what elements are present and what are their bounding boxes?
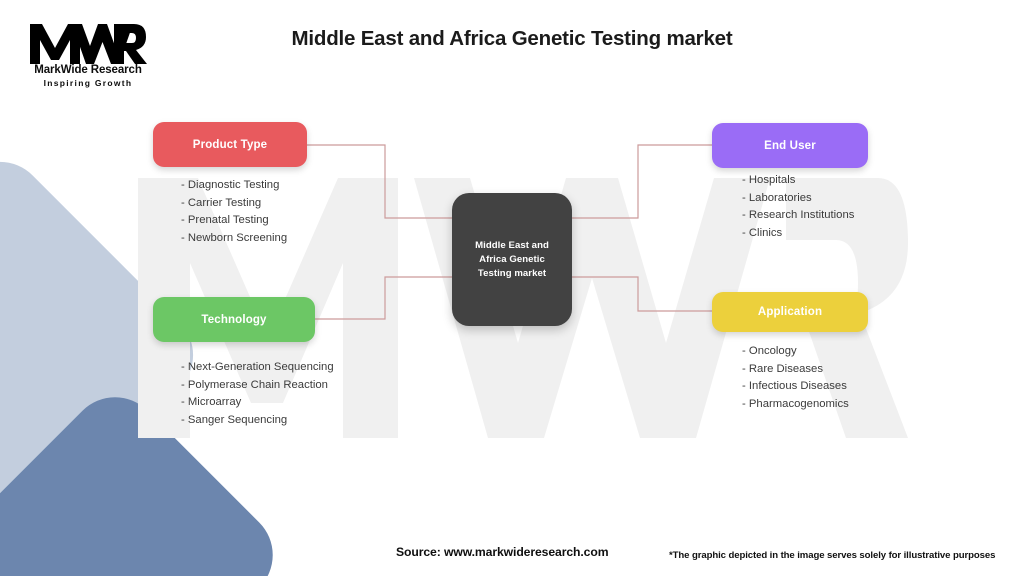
branch-node-product-type[interactable]: Product Type bbox=[153, 122, 307, 167]
list-item: - Infectious Diseases bbox=[742, 378, 849, 396]
branch-items-end-user: - Hospitals - Laboratories - Research In… bbox=[742, 172, 854, 243]
center-node[interactable]: Middle East and Africa Genetic Testing m… bbox=[452, 193, 572, 326]
list-item: - Prenatal Testing bbox=[181, 212, 287, 230]
list-item: - Next-Generation Sequencing bbox=[181, 359, 334, 377]
list-item: - Diagnostic Testing bbox=[181, 177, 287, 195]
list-item: - Research Institutions bbox=[742, 207, 854, 225]
branch-node-application[interactable]: Application bbox=[712, 292, 868, 332]
connector-application bbox=[572, 277, 712, 311]
connector-technology bbox=[315, 277, 452, 319]
connector-end-user bbox=[572, 145, 712, 218]
disclaimer-label: *The graphic depicted in the image serve… bbox=[669, 550, 995, 561]
branch-node-technology[interactable]: Technology bbox=[153, 297, 315, 342]
list-item: - Pharmacogenomics bbox=[742, 396, 849, 414]
list-item: - Polymerase Chain Reaction bbox=[181, 377, 334, 395]
branch-items-product-type: - Diagnostic Testing - Carrier Testing -… bbox=[181, 177, 287, 248]
list-item: - Rare Diseases bbox=[742, 361, 849, 379]
center-node-line-2: Africa Genetic bbox=[479, 253, 545, 267]
connector-product-type bbox=[307, 145, 452, 218]
source-label[interactable]: Source: www.markwideresearch.com bbox=[396, 545, 608, 559]
list-item: - Oncology bbox=[742, 343, 849, 361]
list-item: - Microarray bbox=[181, 394, 334, 412]
list-item: - Sanger Sequencing bbox=[181, 412, 334, 430]
list-item: - Clinics bbox=[742, 225, 854, 243]
list-item: - Carrier Testing bbox=[181, 195, 287, 213]
branch-items-technology: - Next-Generation Sequencing - Polymeras… bbox=[181, 359, 334, 430]
center-node-line-1: Middle East and bbox=[475, 239, 549, 253]
branch-items-application: - Oncology - Rare Diseases - Infectious … bbox=[742, 343, 849, 414]
center-node-line-3: Testing market bbox=[478, 267, 546, 281]
list-item: - Hospitals bbox=[742, 172, 854, 190]
branch-node-end-user[interactable]: End User bbox=[712, 123, 868, 168]
infographic-canvas: MarkWide Research Inspiring Growth Middl… bbox=[0, 0, 1024, 576]
list-item: - Laboratories bbox=[742, 190, 854, 208]
list-item: - Newborn Screening bbox=[181, 230, 287, 248]
